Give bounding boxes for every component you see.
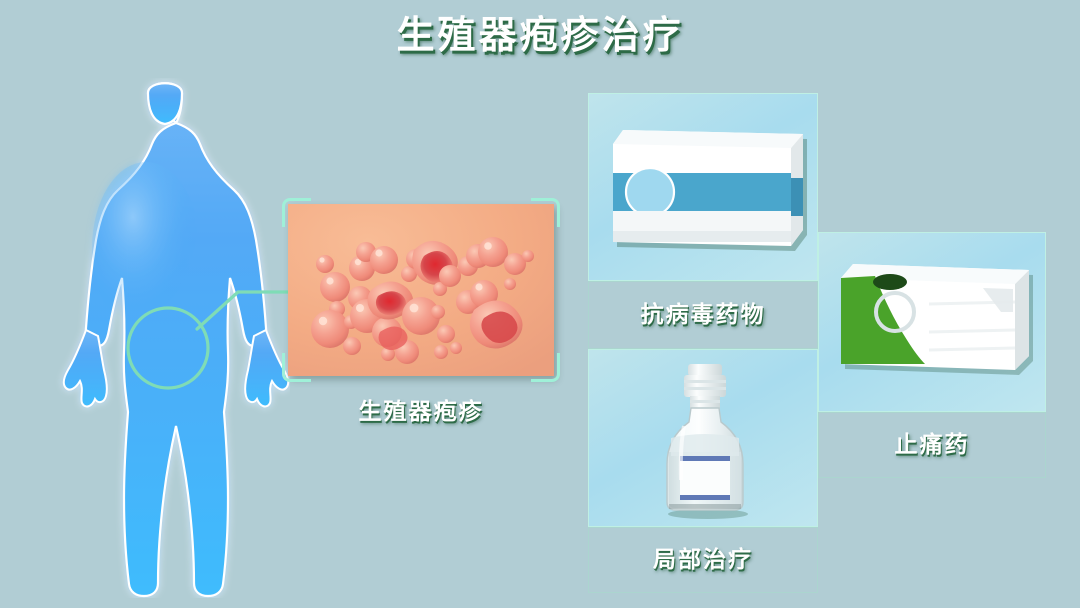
- infographic-canvas: 生殖器疱疹治疗: [0, 0, 1080, 608]
- herpes-skin-lesions: [288, 204, 554, 376]
- label-painkiller: 止痛药: [818, 412, 1046, 478]
- panel-topical: [588, 349, 818, 527]
- antiviral-medicine-box: [601, 126, 807, 256]
- corner-bracket-top-right: [531, 198, 560, 227]
- corner-bracket-bottom-right: [531, 353, 560, 382]
- corner-bracket-bottom-left: [282, 353, 311, 382]
- topical-solution-bottle: [651, 360, 761, 522]
- panel-antiviral: [588, 93, 818, 281]
- panel-painkiller: [818, 232, 1046, 412]
- corner-bracket-top-left: [282, 198, 311, 227]
- label-topical: 局部治疗: [588, 527, 818, 593]
- painkiller-medicine-box: [833, 260, 1035, 378]
- label-antiviral: 抗病毒药物: [588, 281, 818, 349]
- page-title: 生殖器疱疹治疗: [0, 4, 1080, 59]
- label-genital-herpes: 生殖器疱疹: [288, 392, 554, 426]
- human-body-silhouette: [40, 78, 290, 598]
